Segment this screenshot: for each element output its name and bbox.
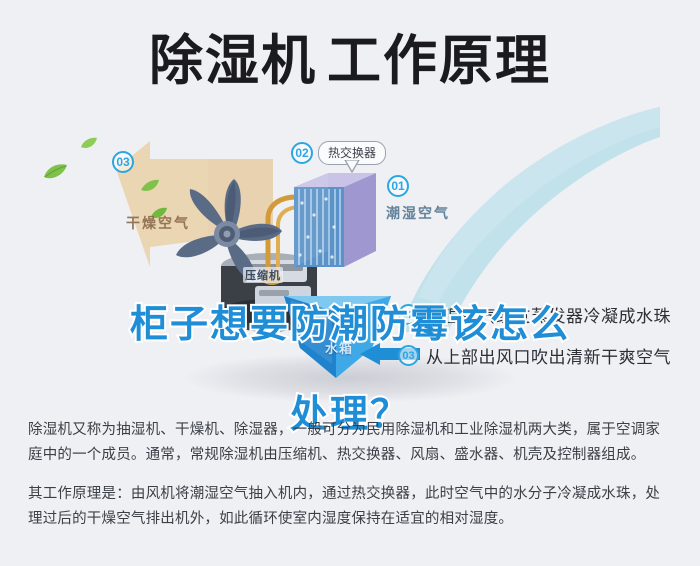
badge-03: 03 [112,151,134,173]
step-text-03: 从上部出风口吹出清新干爽空气 [426,343,671,368]
title-part-2: 工作原理 [327,31,551,91]
page-title: 除湿机工作原理 [0,28,700,94]
step-badge-02: 02 [398,304,419,325]
title-part-1: 除湿机 [149,31,317,91]
water-tank-label: 水箱 [325,338,353,357]
step-item-03: 03 从上部出风口吹出清新干爽空气 [398,343,671,368]
dehumidifier-diagram: 水箱 03 02 01 热交换器 干燥空气 潮湿空气 压缩机 02 潮湿空气经过… [0,115,700,400]
humid-air-label: 潮湿空气 [386,203,450,223]
heat-exchanger-evaporator [288,163,388,278]
infographic-page: 除湿机工作原理 [0,0,700,566]
paragraph-1: 除湿机又称为抽湿机、干燥机、除湿器，一般可分为民用除湿机和工业除湿机两大类，属于… [28,418,674,468]
leaf-icon [42,163,68,186]
step-item-02: 02 潮湿空气经过蒸发器冷凝成水珠 [398,302,671,327]
compressor-label: 压缩机 [243,267,283,283]
leaf-icon [80,137,98,156]
leaf-icon [140,179,160,199]
badge-02: 02 [291,142,313,164]
callout-tail-icon [344,160,360,173]
dry-air-label: 干燥空气 [126,213,190,233]
body-copy: 除湿机又称为抽湿机、干燥机、除湿器，一般可分为民用除湿机和工业除湿机两大类，属于… [28,418,674,532]
step-badge-03: 03 [398,345,419,366]
badge-01: 01 [387,175,409,197]
paragraph-2: 其工作原理是：由风机将潮湿空气抽入机内，通过热交换器，此时空气中的水分子冷凝成水… [28,482,674,532]
water-tank: 水箱 [280,290,395,380]
step-text-02: 潮湿空气经过蒸发器冷凝成水珠 [426,302,671,327]
